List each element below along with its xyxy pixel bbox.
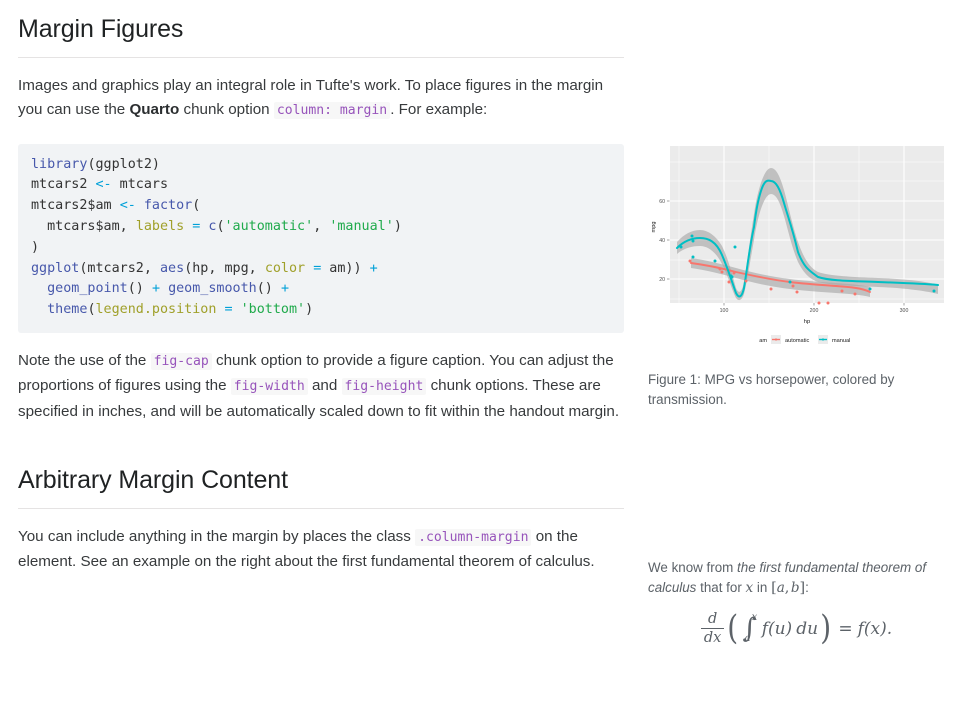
code-token: ,	[313, 219, 329, 234]
code-token: aes	[160, 261, 184, 276]
title-divider	[18, 57, 624, 58]
ggplot-scatter-svg: 20 40 60 mpg 100 200	[646, 142, 946, 347]
margin-figure-mpg-vs-hp: 20 40 60 mpg 100 200	[646, 142, 946, 347]
code-token: 'manual'	[329, 219, 394, 234]
inline-code-fig-width: fig-width	[231, 378, 308, 395]
equals-sign: =	[838, 619, 852, 639]
x-tick-200: 200	[810, 308, 819, 314]
code-token: ()	[128, 281, 152, 296]
code-token: legend.position	[96, 302, 217, 317]
code-token: color	[265, 261, 305, 276]
intro-text-b: chunk option	[179, 101, 274, 118]
code-token: =	[225, 302, 233, 317]
formula-rhs: f(x).	[858, 619, 893, 639]
main-content-column: Margin Figures Images and graphics play …	[18, 0, 624, 574]
code-token: ggplot	[31, 261, 79, 276]
figcap-text-c: and	[308, 377, 342, 394]
code-token: <-	[120, 198, 136, 213]
code-block-content: library(ggplot2) mtcars2 <- mtcars mtcar…	[31, 157, 402, 318]
quarto-bold-term: Quarto	[129, 101, 179, 118]
legend-label-manual: manual	[832, 338, 850, 344]
inline-code-fig-cap: fig-cap	[151, 353, 212, 370]
figcap-text-a: Note the use of the	[18, 352, 151, 369]
code-token: (	[87, 302, 95, 317]
code-token	[31, 302, 47, 317]
margin-note-ftc: We know from the first fundamental theor…	[648, 558, 946, 598]
code-token: labels	[136, 219, 184, 234]
margin-note-text-d: :	[805, 580, 809, 595]
x-axis-label-hp: hp	[804, 319, 810, 325]
code-token: (hp, mpg,	[184, 261, 265, 276]
code-token: (mtcars2,	[79, 261, 160, 276]
inline-code-fig-height: fig-height	[342, 378, 427, 395]
code-token	[305, 261, 313, 276]
chart-legend: am automatic manual	[759, 335, 850, 344]
code-token: 'automatic'	[225, 219, 314, 234]
derivative-fraction: d dx	[701, 611, 724, 646]
integrand: f(u)	[762, 619, 793, 639]
code-token: factor	[144, 198, 192, 213]
code-token	[160, 281, 168, 296]
code-token: theme	[47, 302, 87, 317]
page-title: Margin Figures	[18, 0, 624, 44]
inline-code-column-margin-class: .column-margin	[415, 529, 531, 546]
code-token: geom_point	[47, 281, 128, 296]
code-token: am))	[321, 261, 369, 276]
legend-title-am: am	[759, 338, 767, 344]
page-root: Margin Figures Images and graphics play …	[0, 0, 965, 723]
fraction-numerator: d	[705, 611, 720, 628]
fraction-denominator: dx	[701, 629, 724, 646]
x-tick-100: 100	[720, 308, 729, 314]
inline-code-column-margin: column: margin	[274, 102, 390, 119]
code-token: mtcars	[112, 177, 168, 192]
code-token: <-	[96, 177, 112, 192]
code-token	[216, 302, 224, 317]
chart-container: 20 40 60 mpg 100 200	[646, 142, 946, 347]
code-token: mtcars2	[31, 177, 96, 192]
code-token: +	[370, 261, 378, 276]
code-token: +	[281, 281, 289, 296]
code-token: (	[192, 198, 200, 213]
arbitrary-margin-paragraph: You can include anything in the margin b…	[18, 525, 624, 575]
margin-note-text-c: in	[753, 580, 771, 595]
y-tick-60: 60	[659, 199, 665, 205]
differential: du	[796, 619, 818, 639]
code-token: mtcars2$am	[31, 198, 120, 213]
code-token: library	[31, 157, 87, 172]
code-token: (ggplot2)	[87, 157, 160, 172]
figure-caption: Figure 1: MPG vs horsepower, colored by …	[648, 370, 944, 409]
code-token	[136, 198, 144, 213]
math-formula-ftc: d dx ( ∫xa f(u) du ) = f(x).	[646, 608, 946, 646]
code-token: (	[216, 219, 224, 234]
code-token: mtcars$am,	[31, 219, 136, 234]
legend-label-automatic: automatic	[785, 338, 809, 344]
margin-note-text-b: that for	[696, 580, 745, 595]
section-divider-2	[18, 508, 624, 509]
y-tick-20: 20	[659, 277, 665, 283]
code-token: 'bottom'	[241, 302, 306, 317]
integral-lower-limit: a	[745, 635, 751, 643]
y-tick-40: 40	[659, 238, 665, 244]
intro-paragraph: Images and graphics play an integral rol…	[18, 74, 624, 124]
code-token	[233, 302, 241, 317]
chart-y-axis: 20 40 60	[659, 199, 669, 283]
chart-x-axis: 100 200 300	[720, 303, 909, 314]
code-block-r[interactable]: library(ggplot2) mtcars2 <- mtcars mtcar…	[18, 144, 624, 333]
code-token: )	[305, 302, 313, 317]
intro-text-c: . For example:	[390, 101, 487, 118]
integral-upper-limit: x	[752, 614, 758, 622]
code-token: geom_smooth	[168, 281, 257, 296]
integral-sign: ∫xa	[743, 618, 757, 640]
arbitrary-text-a: You can include anything in the margin b…	[18, 528, 415, 545]
y-axis-label-mpg: mpg	[651, 222, 657, 233]
right-paren: )	[820, 615, 831, 642]
margin-note-interval: [a, b]	[771, 580, 805, 596]
margin-note-text-a: We know from	[648, 560, 737, 575]
figcap-paragraph: Note the use of the fig-cap chunk option…	[18, 349, 624, 424]
code-token: )	[394, 219, 402, 234]
x-tick-300: 300	[900, 308, 909, 314]
left-paren: (	[728, 615, 739, 642]
code-token: +	[152, 281, 160, 296]
formula-row: d dx ( ∫xa f(u) du ) = f(x).	[700, 611, 892, 646]
code-token	[31, 281, 47, 296]
code-token: ()	[257, 281, 281, 296]
section-title-arbitrary-margin-content: Arbitrary Margin Content	[18, 424, 624, 495]
code-token: )	[31, 240, 39, 255]
